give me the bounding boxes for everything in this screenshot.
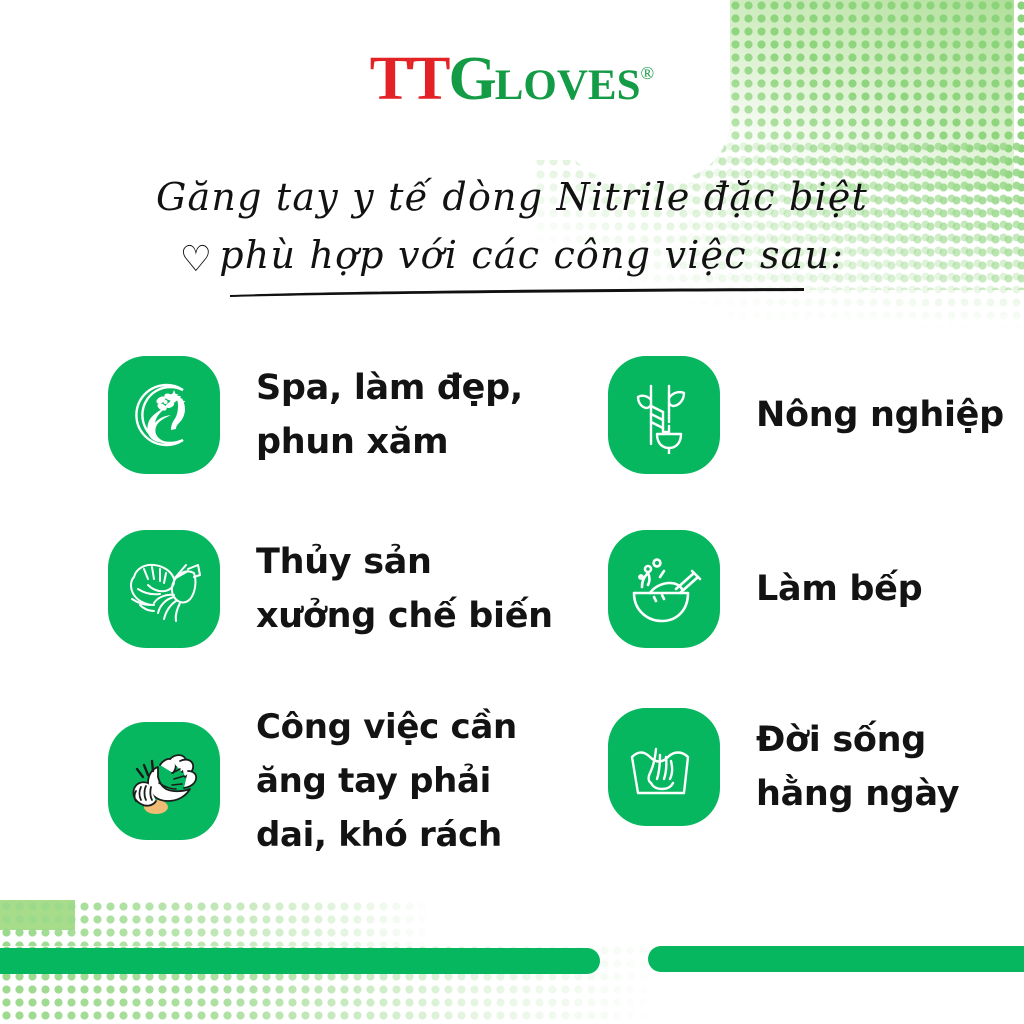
brand-logo: TTGLOVES®	[0, 48, 1024, 110]
frying-pan-cooking-icon	[624, 549, 704, 629]
benefits-grid: Spa, làm đẹp, phun xăm	[0, 352, 1024, 872]
benefit-item-seafood[interactable]: Thủy sản xưởng chế biến	[108, 530, 553, 648]
headline-line-1: Găng tay y tế dòng Nitrile đặc biệt	[0, 168, 1024, 226]
registered-trademark-icon: ®	[641, 63, 655, 83]
bottom-left-green-block	[0, 900, 75, 930]
benefit-label-agriculture: Nông nghiệp	[756, 388, 1004, 442]
agriculture-plant-shovel-icon	[625, 376, 703, 454]
heart-icon: ♡	[180, 242, 213, 278]
spa-beauty-face-icon	[125, 376, 203, 454]
hand-wash-basin-icon	[624, 727, 704, 807]
logo-text-tt: TT	[370, 45, 449, 113]
headline-underline	[228, 284, 806, 294]
benefit-item-cooking[interactable]: Làm bếp	[608, 530, 922, 648]
logo-text-loves: LOVES	[495, 62, 641, 109]
benefit-label-seafood: Thủy sản xưởng chế biến	[256, 535, 553, 643]
benefit-label-spa: Spa, làm đẹp, phun xăm	[256, 361, 523, 469]
shrimp-squid-seafood-icon	[122, 547, 206, 631]
poster-canvas: TTGLOVES® Găng tay y tế dòng Nitrile đặc…	[0, 0, 1024, 1024]
gloved-hand-tearing-icon	[122, 739, 206, 823]
benefit-item-daily[interactable]: Đời sống hằng ngày	[608, 708, 959, 826]
headline-line-2-wrap: ♡phù hợp với các công việc sau:	[0, 226, 1024, 284]
badge-daily	[608, 708, 720, 826]
benefit-label-daily: Đời sống hằng ngày	[756, 713, 959, 821]
bottom-bar-left	[0, 948, 600, 974]
badge-seafood	[108, 530, 220, 648]
headline-line-2: phù hợp với các công việc sau:	[219, 233, 844, 277]
benefit-item-spa[interactable]: Spa, làm đẹp, phun xăm	[108, 356, 523, 474]
badge-spa	[108, 356, 220, 474]
benefit-label-durable: Công việc cần ăng tay phải dai, khó rách	[256, 700, 517, 862]
benefit-label-cooking: Làm bếp	[756, 562, 922, 616]
logo-text-g: G	[449, 45, 495, 113]
badge-cooking	[608, 530, 720, 648]
bottom-left-halftone-lower	[0, 944, 680, 1024]
badge-agriculture	[608, 356, 720, 474]
badge-durable	[108, 722, 220, 840]
benefit-item-durable[interactable]: Công việc cần ăng tay phải dai, khó rách	[108, 700, 517, 862]
bottom-left-halftone-upper	[0, 900, 460, 946]
bottom-bar-right	[648, 946, 1024, 972]
benefit-item-agriculture[interactable]: Nông nghiệp	[608, 356, 1004, 474]
headline-block: Găng tay y tế dòng Nitrile đặc biệt ♡phù…	[0, 168, 1024, 284]
